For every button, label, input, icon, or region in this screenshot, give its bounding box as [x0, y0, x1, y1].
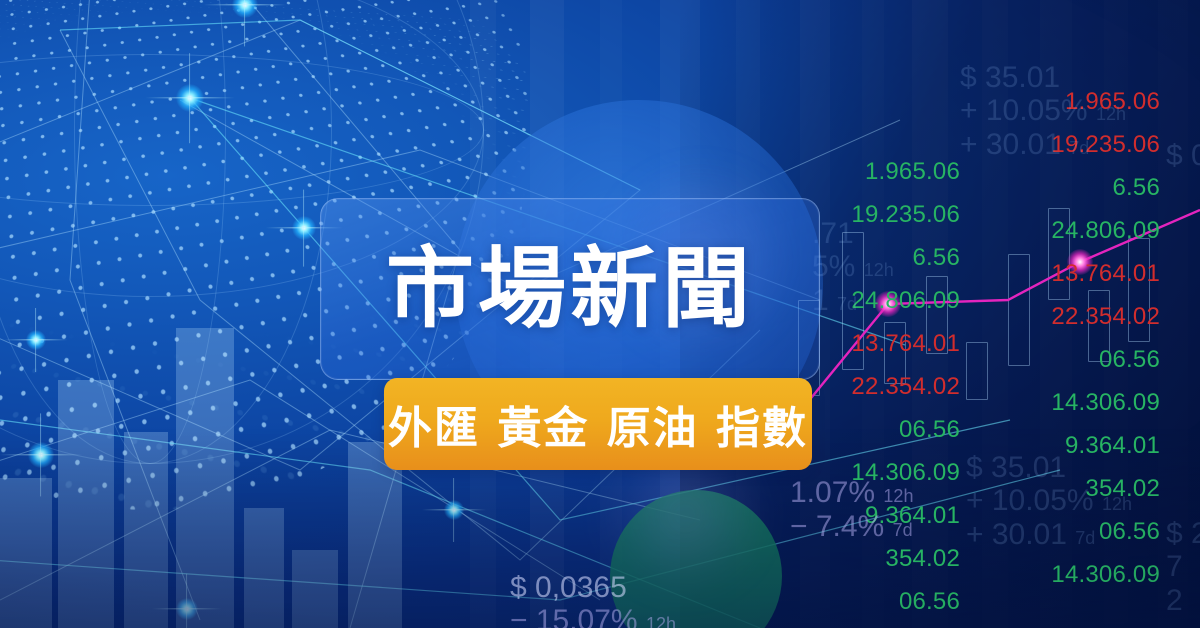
price-change-7d-label: 7d [837, 294, 857, 314]
price-value: $ 35.01 [960, 62, 1126, 94]
ticker-value: 6.56 [970, 166, 1160, 209]
price-change-12h-label: 12h [646, 614, 676, 628]
price-block-edge-lower: $ 2 7 2 [1166, 518, 1200, 618]
price-change-7d-value: + 30.01 [966, 518, 1067, 551]
price-change-12h: 1.07% 12h [790, 476, 913, 510]
price-value: $ 35.01 [966, 452, 1132, 484]
ticker-value: 06.56 [770, 580, 960, 623]
banner-canvas: 1.965.06 19.235.06 6.56 24.806.09 13.764… [0, 0, 1200, 628]
price-change-7d-label: 7d [893, 520, 913, 540]
price-change-12h-value: 1.07% [790, 476, 875, 509]
price-change-7d: + 30.01 7d [960, 128, 1126, 162]
price-change-12h-value: + 10.05% [960, 94, 1088, 127]
page-title: 市場新聞 [386, 245, 754, 333]
price-change-7d-label: 7d [1075, 528, 1095, 548]
ticker-value: 14.306.09 [770, 623, 960, 628]
price-change-7d-value: 2 [1166, 584, 1183, 617]
price-change-12h: 5% 12h [812, 250, 894, 284]
ticker-value: 1.965.06 [770, 150, 960, 193]
price-block-center-bottom: $ 0,0365 − 15.07% 12h − 40.4% 7d [510, 572, 676, 628]
price-change-7d: 2 [1166, 584, 1200, 618]
ticker-value: 14.306.09 [970, 381, 1160, 424]
price-change-7d: 1 7d [812, 284, 894, 318]
price-block-behind-card: .71 5% 12h 1 7d [812, 218, 894, 318]
price-change-12h-value: − 15.07% [510, 604, 638, 628]
price-change-12h: + 10.05% 12h [960, 94, 1126, 128]
price-change-7d: − 7.4% 7d [790, 510, 913, 544]
ticker-value: 13.764.01 [970, 252, 1160, 295]
ticker-value: 14.306.09 [970, 553, 1160, 596]
price-change-12h-label: 12h [1102, 494, 1132, 514]
ticker-value: 24.806.09 [970, 209, 1160, 252]
price-change-7d-label: 7d [1069, 138, 1089, 158]
price-change-12h: + 10.05% 12h [966, 484, 1132, 518]
price-change-12h-value: + 10.05% [966, 484, 1094, 517]
price-change-7d-value: − 7.4% [790, 510, 884, 543]
ticker-value: 06.56 [970, 338, 1160, 381]
price-value: $ 0,0365 [510, 572, 676, 604]
price-block-bottom-right: $ 35.01 + 10.05% 12h + 30.01 7d [966, 452, 1132, 552]
price-block-edge-upper: $ 0 [1166, 140, 1200, 172]
price-change-7d-value: + 30.01 [960, 128, 1061, 161]
price-value: .71 [812, 218, 894, 250]
title-card: 市場新聞 [320, 198, 820, 380]
price-change-7d: + 30.01 7d [966, 518, 1132, 552]
price-change-12h-label: 12h [864, 260, 894, 280]
price-value: $ 0 [1166, 140, 1200, 172]
price-block-top: $ 35.01 + 10.05% 12h + 30.01 7d [960, 62, 1126, 162]
price-change-12h-value: 7 [1166, 550, 1183, 583]
category-badge-label: 外匯 黃金 原油 指數 [388, 392, 808, 456]
price-change-12h: 7 [1166, 550, 1200, 584]
price-value: $ 2 [1166, 518, 1200, 550]
category-badge[interactable]: 外匯 黃金 原油 指數 [384, 378, 812, 470]
ticker-value: 22.354.02 [970, 295, 1160, 338]
price-change-12h-label: 12h [883, 486, 913, 506]
price-change-12h-label: 12h [1096, 104, 1126, 124]
price-change-12h: − 15.07% 12h [510, 604, 676, 628]
